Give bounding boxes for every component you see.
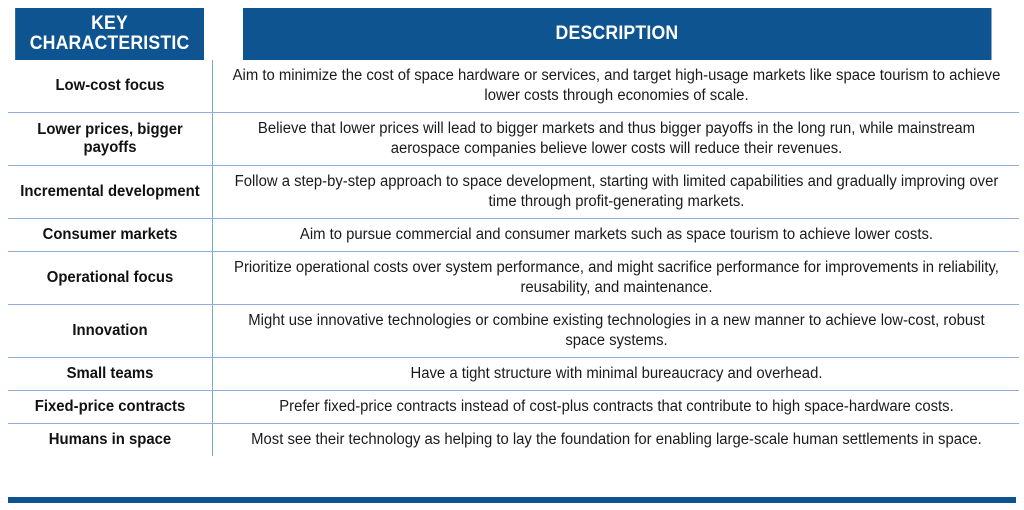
cell-description: Prefer fixed-price contracts instead of … [227,391,1005,424]
table-row: Incremental developmentFollow a step-by-… [8,166,1019,219]
cell-key-characteristic: Incremental development [12,166,208,219]
cell-description: Believe that lower prices will lead to b… [227,113,1005,166]
column-header-key-characteristic-line1: KEY [15,14,204,34]
key-characteristics-table-container: KEY CHARACTERISTIC DESCRIPTION Low-cost … [8,8,1016,503]
cell-key-characteristic: Innovation [12,305,208,358]
column-header-description: DESCRIPTION [241,8,991,60]
table-row: Lower prices, bigger payoffsBelieve that… [8,113,1019,166]
table-body: Low-cost focusAim to minimize the cost o… [8,60,1019,456]
cell-description: Prioritize operational costs over system… [227,252,1005,305]
table-row: Small teamsHave a tight structure with m… [8,358,1019,391]
table-row: Humans in spaceMost see their technology… [8,424,1019,457]
column-header-key-characteristic: KEY CHARACTERISTIC [15,8,205,60]
cell-key-characteristic: Humans in space [12,424,208,457]
table-row: Operational focusPrioritize operational … [8,252,1019,305]
table-row: Fixed-price contractsPrefer fixed-price … [8,391,1019,424]
cell-key-characteristic: Low-cost focus [12,60,208,113]
cell-key-characteristic: Small teams [12,358,208,391]
table-row: Consumer marketsAim to pursue commercial… [8,219,1019,252]
cell-description: Have a tight structure with minimal bure… [227,358,1005,391]
table-row: InnovationMight use innovative technolog… [8,305,1019,358]
column-header-key-characteristic-line2: CHARACTERISTIC [15,34,204,54]
cell-key-characteristic: Consumer markets [12,219,208,252]
key-characteristics-table: KEY CHARACTERISTIC DESCRIPTION Low-cost … [8,8,1019,456]
cell-description: Aim to pursue commercial and consumer ma… [227,219,1005,252]
cell-description: Aim to minimize the cost of space hardwa… [227,60,1005,113]
cell-key-characteristic: Fixed-price contracts [12,391,208,424]
cell-description: Most see their technology as helping to … [227,424,1005,457]
table-bottom-rule [8,497,1016,503]
table-header-row: KEY CHARACTERISTIC DESCRIPTION [8,8,1019,60]
cell-description: Follow a step-by-step approach to space … [227,166,1005,219]
cell-description: Might use innovative technologies or com… [227,305,1005,358]
cell-key-characteristic: Lower prices, bigger payoffs [12,113,208,166]
table-header: KEY CHARACTERISTIC DESCRIPTION [8,8,1019,60]
table-row: Low-cost focusAim to minimize the cost o… [8,60,1019,113]
cell-key-characteristic: Operational focus [12,252,208,305]
